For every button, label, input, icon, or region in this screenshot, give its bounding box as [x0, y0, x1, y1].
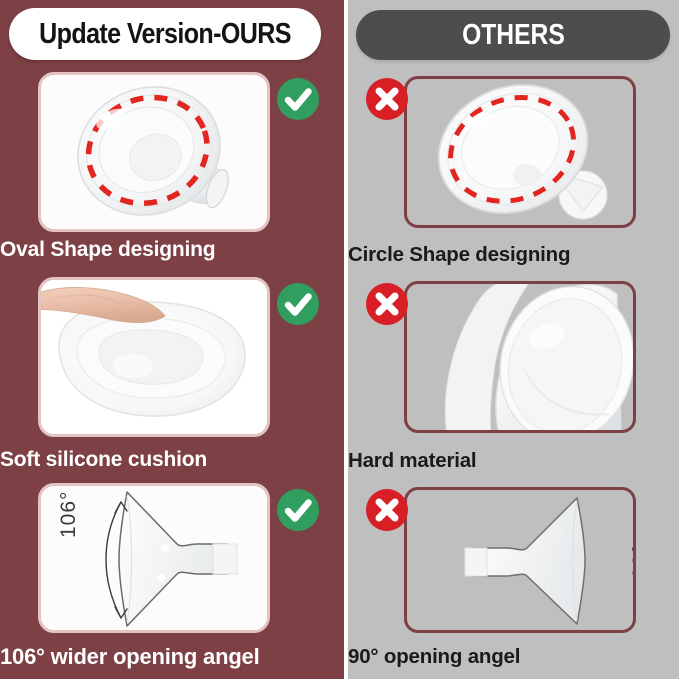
x-icon — [366, 78, 408, 120]
ours-card-angle: 106° — [38, 483, 270, 633]
ours-card-silicone — [38, 277, 270, 437]
hard-plastic-funnel-artwork — [407, 284, 633, 430]
check-icon — [277, 283, 319, 325]
others-angle-label: 90° — [629, 544, 636, 579]
others-card-hard — [404, 281, 636, 433]
check-icon — [277, 489, 319, 531]
soft-silicone-hand-artwork — [41, 280, 267, 434]
check-icon — [277, 78, 319, 120]
x-icon — [366, 283, 408, 325]
product-comparison-infographic: Update Version-OURS — [0, 0, 679, 679]
ours-panel: Update Version-OURS — [0, 0, 344, 679]
ours-header-pill: Update Version-OURS — [9, 8, 321, 60]
ours-angle-label: 106° — [57, 491, 81, 538]
others-panel: OTHERS — [348, 0, 679, 679]
others-card-circle — [404, 76, 636, 228]
others-card-angle: 90° — [404, 487, 636, 633]
ours-header-label: Update Version-OURS — [39, 18, 291, 51]
flange-circle-front-artwork — [407, 79, 633, 225]
others-header-label: OTHERS — [462, 19, 565, 52]
ours-card-oval — [38, 72, 270, 232]
x-icon — [366, 489, 408, 531]
flange-angle-profile-mirrored-artwork — [407, 490, 633, 630]
others-header-pill: OTHERS — [356, 10, 670, 60]
flange-oval-front-artwork — [41, 75, 267, 229]
